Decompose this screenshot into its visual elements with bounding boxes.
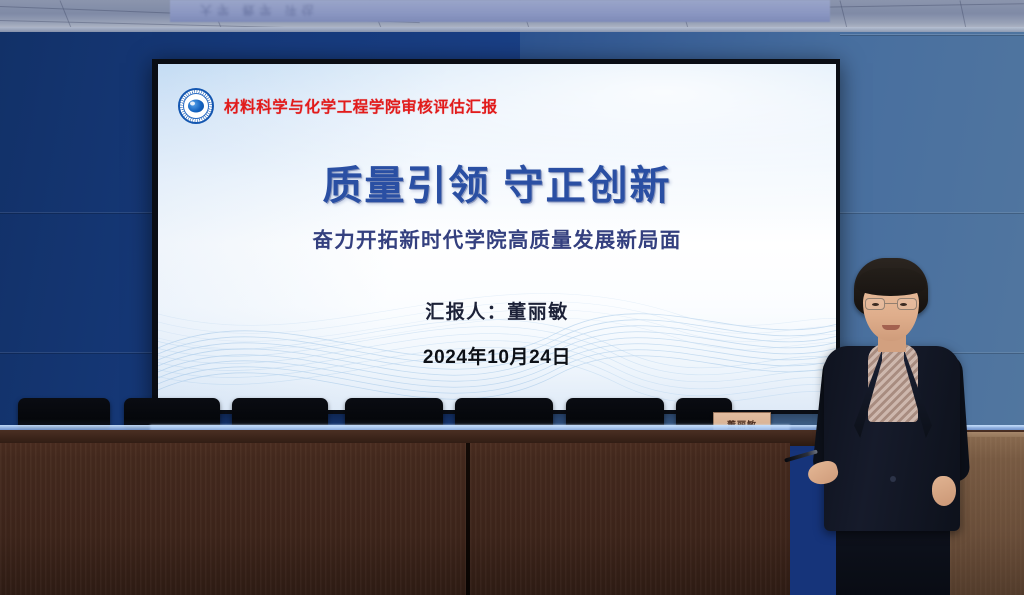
presenter-figure xyxy=(806,258,978,595)
conference-chair xyxy=(18,398,110,428)
emblem-core xyxy=(188,100,204,113)
slide-main-title: 质量引领 守正创新 xyxy=(158,164,836,209)
presenter-jacket-button xyxy=(890,476,896,482)
slide: 材料科学与化学工程学院审核评估汇报 质量引领 守正创新 奋力开拓新时代学院高质量… xyxy=(158,64,836,410)
conference-table-front-panel xyxy=(0,443,790,595)
projection-screen: 材料科学与化学工程学院审核评估汇报 质量引领 守正创新 奋力开拓新时代学院高质量… xyxy=(152,59,840,414)
conference-chair xyxy=(124,398,220,428)
slide-sub-title: 奋力开拓新时代学院高质量发展新局面 xyxy=(158,223,836,253)
wall-seam xyxy=(840,212,1024,213)
conference-chair xyxy=(232,398,328,428)
presenter-eye-right xyxy=(900,303,907,306)
presenter-mouth xyxy=(882,325,900,330)
wall-seam xyxy=(0,212,152,213)
presenter-trousers xyxy=(836,520,950,595)
wood-grain-texture xyxy=(0,443,790,595)
slide-body: 质量引领 守正创新 奋力开拓新时代学院高质量发展新局面 汇报人：董丽敏 2024… xyxy=(158,164,836,369)
presenter-hair-fringe xyxy=(856,268,926,296)
university-emblem-icon xyxy=(178,88,214,124)
conference-chair xyxy=(455,398,553,428)
slide-presenter-line: 汇报人：董丽敏 xyxy=(158,297,836,324)
ceiling: 大学 教学 评估 xyxy=(0,0,1024,30)
slide-header: 材料科学与化学工程学院审核评估汇报 xyxy=(178,88,498,124)
presentation-room-photo: 大学 教学 评估 xyxy=(0,0,1024,595)
conference-chair xyxy=(345,398,443,428)
slide-header-title: 材料科学与化学工程学院审核评估汇报 xyxy=(224,95,498,117)
presenter-right-hand xyxy=(932,476,956,506)
ceiling-reflection-banner: 大学 教学 评估 xyxy=(170,0,830,22)
slide-date-line: 2024年10月24日 xyxy=(158,342,836,369)
ceiling-banner-ghost-text: 大学 教学 评估 xyxy=(200,2,319,19)
wall-seam xyxy=(840,34,1024,35)
table-panel-seam xyxy=(466,443,470,595)
presenter-eye-left xyxy=(872,303,879,306)
wall-top-trim xyxy=(0,27,1024,32)
glasses-bridge xyxy=(885,303,897,304)
conference-chair xyxy=(566,398,664,428)
wall-seam xyxy=(0,352,152,353)
